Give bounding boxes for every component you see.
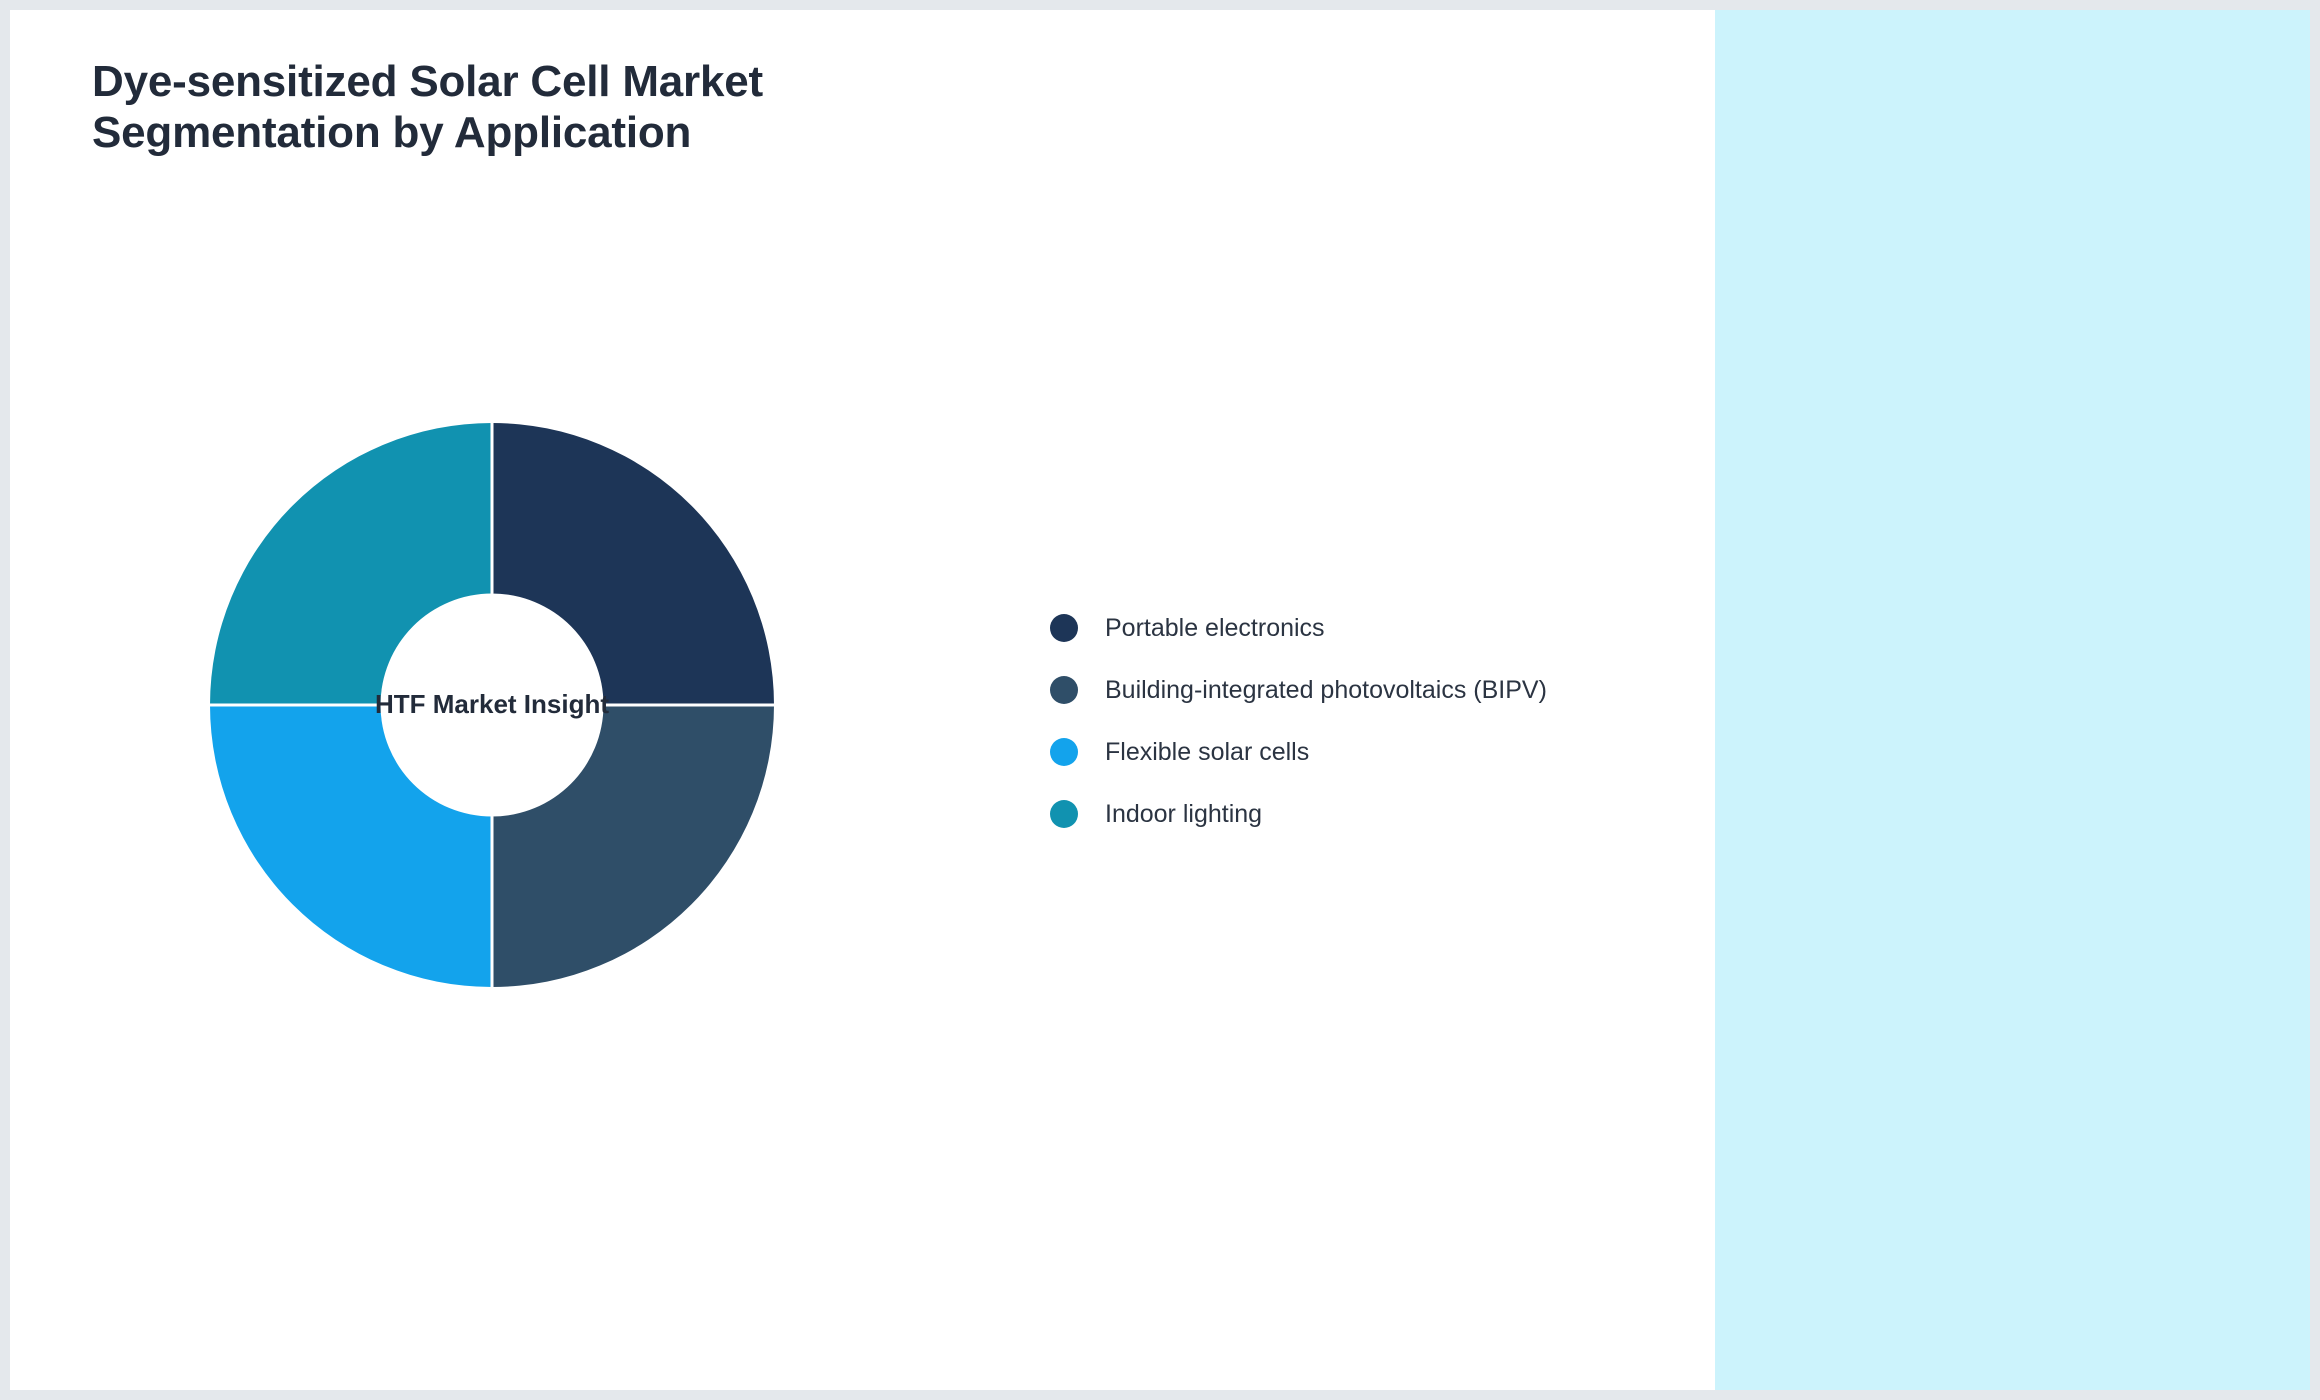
legend-swatch-icon: [1050, 614, 1078, 642]
infographic-canvas: Dye-sensitized Solar Cell Market Segment…: [0, 0, 2320, 1400]
legend-label: Building-integrated photovoltaics (BIPV): [1105, 676, 1547, 705]
legend-item-flexible-solar-cells[interactable]: Flexible solar cells: [1050, 721, 1547, 783]
legend-swatch-icon: [1050, 676, 1078, 704]
legend-swatch-icon: [1050, 800, 1078, 828]
donut-segment-flexible-solar-cells[interactable]: [210, 705, 492, 987]
donut-svg: [210, 423, 774, 987]
donut-segment-indoor-lighting[interactable]: [210, 423, 492, 705]
donut-chart: [210, 423, 774, 987]
legend-label: Portable electronics: [1105, 614, 1325, 643]
legend-item-portable-electronics[interactable]: Portable electronics: [1050, 597, 1547, 659]
donut-segment-portable-electronics[interactable]: [492, 423, 774, 705]
legend-label: Flexible solar cells: [1105, 738, 1309, 767]
main-panel: Dye-sensitized Solar Cell Market Segment…: [10, 10, 1715, 1390]
legend-item-indoor-lighting[interactable]: Indoor lighting: [1050, 783, 1547, 845]
donut-segment-bipv[interactable]: [492, 705, 774, 987]
sidebar-panel: HTF Market Intelligence 800 Million Glob…: [1715, 10, 2310, 1390]
page-title: Dye-sensitized Solar Cell Market Segment…: [92, 56, 1092, 159]
legend-item-bipv[interactable]: Building-integrated photovoltaics (BIPV): [1050, 659, 1547, 721]
chart-legend: Portable electronics Building-integrated…: [1050, 597, 1547, 845]
legend-swatch-icon: [1050, 738, 1078, 766]
legend-label: Indoor lighting: [1105, 800, 1262, 829]
